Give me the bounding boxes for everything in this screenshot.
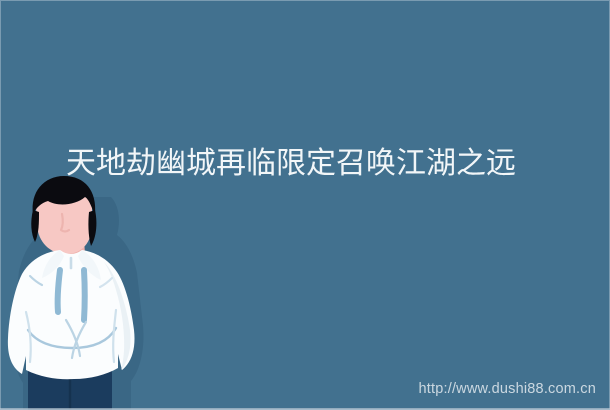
drawstring-left	[58, 270, 60, 312]
drawstring-right	[84, 270, 85, 320]
watermark-url: http://www.dushi88.com.cn	[419, 381, 596, 398]
person-illustration	[0, 170, 160, 410]
page-title: 天地劫幽城再临限定召唤江湖之远	[66, 144, 556, 184]
banner-image: 天地劫幽城再临限定召唤江湖之远 http://www.dushi88.com.c…	[0, 0, 610, 410]
